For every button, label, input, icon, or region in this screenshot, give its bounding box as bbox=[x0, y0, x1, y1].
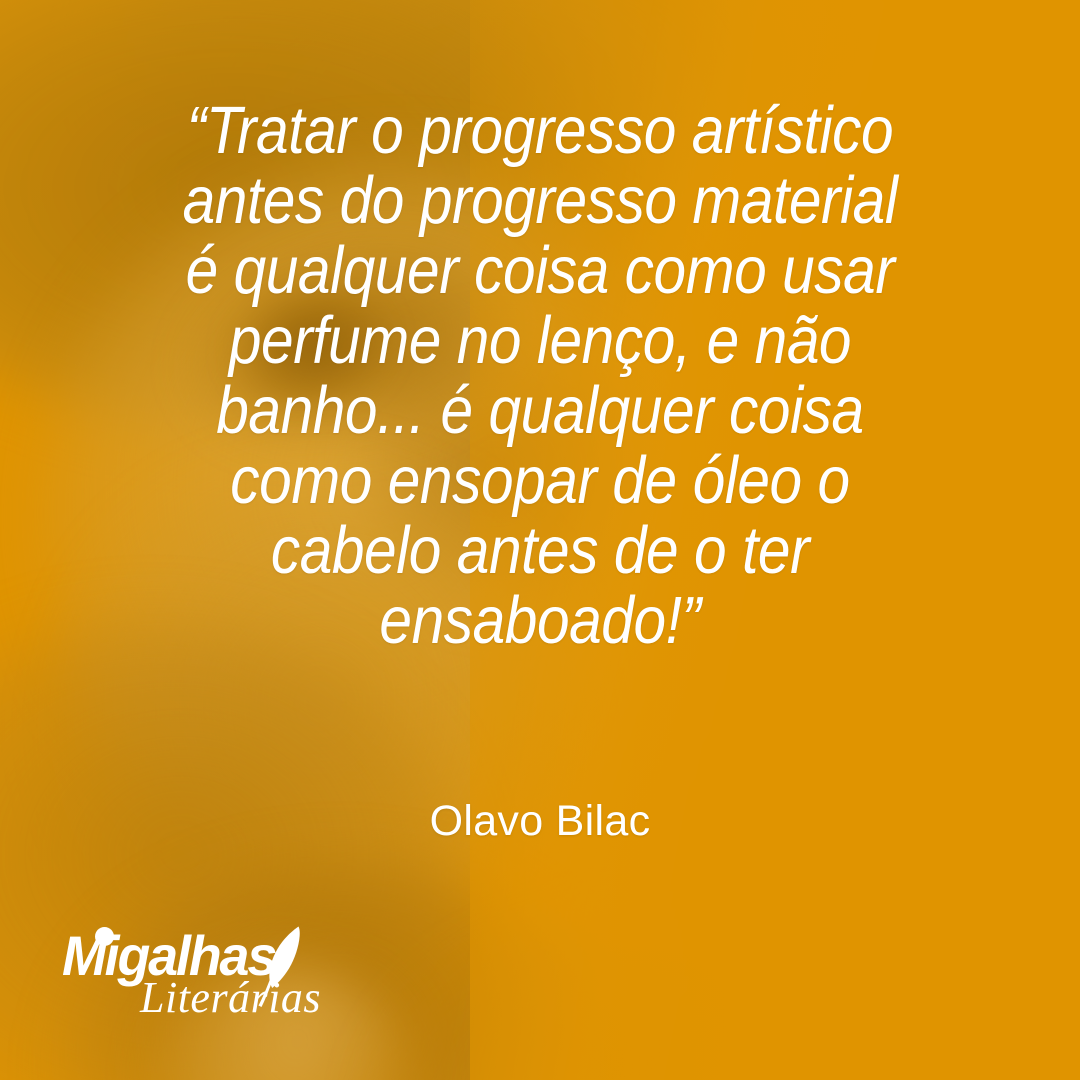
brand-logo-i-dot bbox=[95, 927, 114, 946]
author-name: Olavo Bilac bbox=[0, 796, 1080, 846]
quote-text: “Tratar o progresso artístico antes do p… bbox=[68, 96, 1013, 656]
quote-card: “Tratar o progresso artístico antes do p… bbox=[0, 0, 1080, 1080]
brand-logo-subtitle: Literárias bbox=[140, 974, 321, 1022]
brand-logo[interactable]: Migalhas Literárias bbox=[62, 928, 362, 1024]
